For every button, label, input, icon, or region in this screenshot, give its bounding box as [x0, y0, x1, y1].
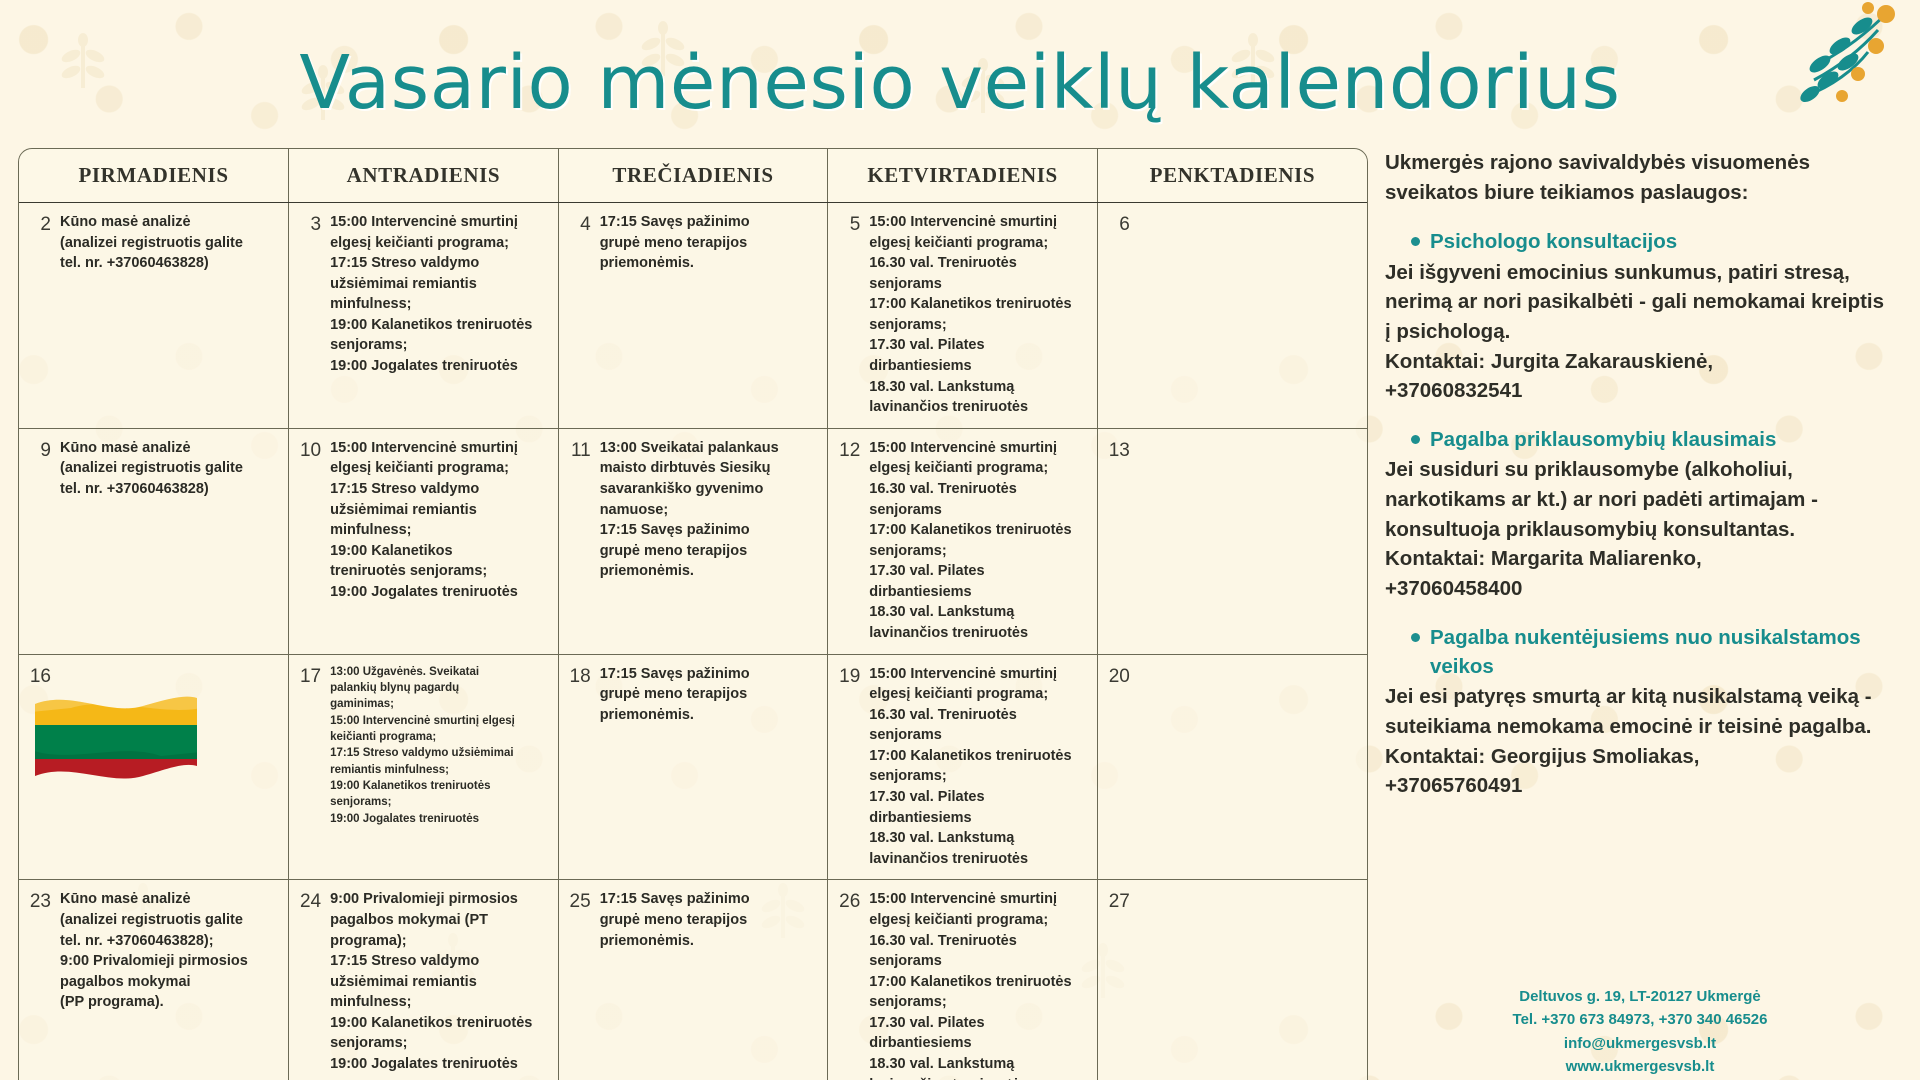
bullet-icon	[1411, 435, 1420, 444]
calendar-day-cell[interactable]: 6	[1097, 203, 1367, 429]
day-number: 26	[834, 889, 860, 1080]
footer-email[interactable]: info@ukmergesvsb.lt	[1385, 1032, 1895, 1055]
day-number: 9	[25, 438, 51, 500]
services-intro: Ukmergės rajono savivaldybės visuomenės …	[1385, 148, 1895, 207]
calendar-day-cell[interactable]: 1713:00 Užgavėnės. Sveikatai palankių bl…	[289, 654, 559, 880]
day-number: 3	[295, 212, 321, 377]
calendar-day-cell[interactable]: 20	[1097, 654, 1367, 880]
calendar-poster: Vasario mėnesio veiklų kalendorius	[0, 0, 1920, 1080]
day-number: 5	[834, 212, 860, 418]
day-events: 15:00 Intervencinė smurtinį elgesį keiči…	[869, 664, 1089, 870]
day-number: 6	[1104, 212, 1130, 237]
day-number: 27	[1104, 889, 1130, 914]
day-number: 16	[25, 664, 51, 689]
services-list: Psichologo konsultacijosJei išgyveni emo…	[1385, 227, 1895, 801]
calendar-day-cell[interactable]: 1215:00 Intervencinė smurtinį elgesį kei…	[828, 428, 1098, 654]
column-header-tuesday: ANTRADIENIS	[289, 149, 559, 203]
calendar-day-cell[interactable]: 2Kūno masė analizė (analizei registruoti…	[19, 203, 289, 429]
service-heading: Psichologo konsultacijos	[1385, 227, 1895, 256]
day-events	[1139, 438, 1359, 463]
day-number: 18	[565, 664, 591, 726]
day-events: 13:00 Sveikatai palankaus maisto dirbtuv…	[600, 438, 820, 582]
service-description: Jei esi patyręs smurtą ar kitą nusikalst…	[1385, 682, 1895, 741]
service-heading: Pagalba priklausomybių klausimais	[1385, 425, 1895, 454]
lithuania-flag-icon	[31, 690, 201, 794]
day-number: 25	[565, 889, 591, 951]
column-header-thursday: KETVIRTADIENIS	[828, 149, 1098, 203]
calendar-day-cell[interactable]: 16	[19, 654, 289, 880]
footer-phones: Tel. +370 673 84973, +370 340 46526	[1385, 1008, 1895, 1031]
day-events	[1139, 889, 1359, 914]
calendar-table: PIRMADIENIS ANTRADIENIS TREČIADIENIS KET…	[19, 149, 1367, 1080]
calendar-header-row: PIRMADIENIS ANTRADIENIS TREČIADIENIS KET…	[19, 149, 1367, 203]
day-events: Kūno masė analizė (analizei registruotis…	[60, 212, 280, 274]
services-panel: Ukmergės rajono savivaldybės visuomenės …	[1385, 148, 1895, 820]
calendar-week-row: 23Kūno masė analizė (analizei registruot…	[19, 880, 1367, 1080]
day-events: 15:00 Intervencinė smurtinį elgesį keiči…	[330, 212, 550, 377]
calendar-day-cell[interactable]: 249:00 Privalomieji pirmosios pagalbos m…	[289, 880, 559, 1080]
day-events: 15:00 Intervencinė smurtinį elgesį keiči…	[869, 438, 1089, 644]
day-events: 15:00 Intervencinė smurtinį elgesį keiči…	[869, 889, 1089, 1080]
day-number: 4	[565, 212, 591, 274]
day-number: 10	[295, 438, 321, 603]
service-contact: Kontaktai: Jurgita Zakarauskienė, +37060…	[1385, 347, 1895, 406]
day-number: 24	[295, 889, 321, 1074]
bullet-icon	[1411, 237, 1420, 246]
calendar-day-cell[interactable]: 417:15 Savęs pažinimo grupė meno terapij…	[558, 203, 828, 429]
day-events: 13:00 Užgavėnės. Sveikatai palankių blyn…	[330, 664, 550, 827]
day-events: 17:15 Savęs pažinimo grupė meno terapijo…	[600, 664, 820, 726]
day-number: 11	[565, 438, 591, 582]
day-events: 9:00 Privalomieji pirmosios pagalbos mok…	[330, 889, 550, 1074]
service-contact: Kontaktai: Margarita Maliarenko, +370604…	[1385, 544, 1895, 603]
calendar-day-cell[interactable]: 9Kūno masė analizė (analizei registruoti…	[19, 428, 289, 654]
day-number: 19	[834, 664, 860, 870]
day-events: Kūno masė analizė (analizei registruotis…	[60, 889, 280, 1012]
day-number: 12	[834, 438, 860, 644]
calendar-week-row: 9Kūno masė analizė (analizei registruoti…	[19, 428, 1367, 654]
service-entry: Pagalba nukentėjusiems nuo nusikalstamos…	[1385, 623, 1895, 801]
olive-branch-decoration-icon	[1672, 0, 1902, 125]
day-events	[60, 664, 280, 689]
day-events: 17:15 Savęs pažinimo grupė meno terapijo…	[600, 212, 820, 274]
service-description: Jei išgyveni emocinius sunkumus, patiri …	[1385, 258, 1895, 347]
column-header-monday: PIRMADIENIS	[19, 149, 289, 203]
service-title: Psichologo konsultacijos	[1430, 227, 1677, 256]
service-description: Jei susiduri su priklausomybe (alkoholiu…	[1385, 455, 1895, 544]
service-contact: Kontaktai: Georgijus Smoliakas, +3706576…	[1385, 742, 1895, 801]
column-header-friday: PENKTADIENIS	[1097, 149, 1367, 203]
day-number: 13	[1104, 438, 1130, 463]
day-events	[1139, 212, 1359, 237]
day-events: 17:15 Savęs pažinimo grupė meno terapijo…	[600, 889, 820, 951]
footer-website[interactable]: www.ukmergesvsb.lt	[1385, 1055, 1895, 1078]
column-header-wednesday: TREČIADIENIS	[558, 149, 828, 203]
day-number: 17	[295, 664, 321, 827]
calendar-body: 2Kūno masė analizė (analizei registruoti…	[19, 203, 1367, 1080]
service-heading: Pagalba nukentėjusiems nuo nusikalstamos…	[1385, 623, 1895, 681]
day-number: 20	[1104, 664, 1130, 689]
calendar-day-cell[interactable]: 1817:15 Savęs pažinimo grupė meno terapi…	[558, 654, 828, 880]
page-title: Vasario mėnesio veiklų kalendorius	[0, 40, 1920, 126]
day-number: 2	[25, 212, 51, 274]
calendar-day-cell[interactable]: 27	[1097, 880, 1367, 1080]
day-events: Kūno masė analizė (analizei registruotis…	[60, 438, 280, 500]
calendar-day-cell[interactable]: 1015:00 Intervencinė smurtinį elgesį kei…	[289, 428, 559, 654]
activity-calendar: PIRMADIENIS ANTRADIENIS TREČIADIENIS KET…	[18, 148, 1368, 1080]
calendar-day-cell[interactable]: 1915:00 Intervencinė smurtinį elgesį kei…	[828, 654, 1098, 880]
calendar-day-cell[interactable]: 1113:00 Sveikatai palankaus maisto dirbt…	[558, 428, 828, 654]
service-title: Pagalba priklausomybių klausimais	[1430, 425, 1776, 454]
calendar-day-cell[interactable]: 2615:00 Intervencinė smurtinį elgesį kei…	[828, 880, 1098, 1080]
calendar-week-row: 2Kūno masė analizė (analizei registruoti…	[19, 203, 1367, 429]
bullet-icon	[1411, 633, 1420, 642]
calendar-week-row: 161713:00 Užgavėnės. Sveikatai palankių …	[19, 654, 1367, 880]
day-number: 23	[25, 889, 51, 1012]
calendar-day-cell[interactable]: 23Kūno masė analizė (analizei registruot…	[19, 880, 289, 1080]
footer-address: Deltuvos g. 19, LT-20127 Ukmergė	[1385, 985, 1895, 1008]
calendar-day-cell[interactable]: 315:00 Intervencinė smurtinį elgesį keič…	[289, 203, 559, 429]
service-title: Pagalba nukentėjusiems nuo nusikalstamos…	[1430, 623, 1895, 681]
calendar-day-cell[interactable]: 13	[1097, 428, 1367, 654]
service-entry: Pagalba priklausomybių klausimaisJei sus…	[1385, 425, 1895, 604]
service-entry: Psichologo konsultacijosJei išgyveni emo…	[1385, 227, 1895, 406]
day-events: 15:00 Intervencinė smurtinį elgesį keiči…	[869, 212, 1089, 418]
contact-footer: Deltuvos g. 19, LT-20127 Ukmergė Tel. +3…	[1385, 985, 1895, 1078]
calendar-day-cell[interactable]: 515:00 Intervencinė smurtinį elgesį keič…	[828, 203, 1098, 429]
calendar-day-cell[interactable]: 2517:15 Savęs pažinimo grupė meno terapi…	[558, 880, 828, 1080]
day-events	[1139, 664, 1359, 689]
day-events: 15:00 Intervencinė smurtinį elgesį keiči…	[330, 438, 550, 603]
